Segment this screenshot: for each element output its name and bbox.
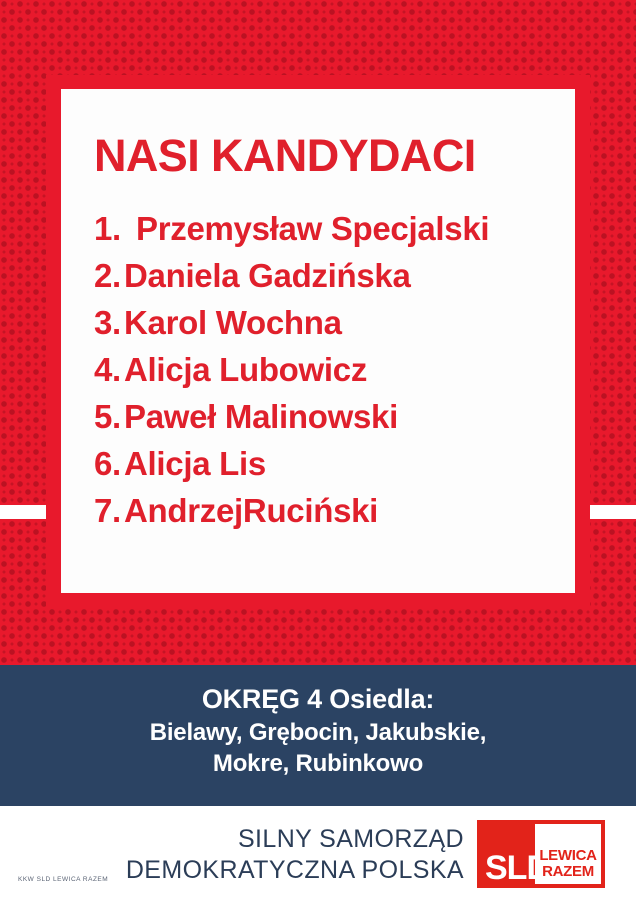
candidate-name: Karol Wochna <box>124 306 342 339</box>
left-edge-accent-bar <box>0 505 50 519</box>
candidate-name: AndrzejRuciński <box>124 494 378 527</box>
candidate-name: Daniela Gadzińska <box>124 259 411 292</box>
candidate-name: Przemysław Specjalski <box>124 212 489 245</box>
election-poster: NASI KANDYDACI 1. Przemysław Specjalski … <box>0 0 636 900</box>
list-item: 6. Alicja Lis <box>94 447 549 480</box>
candidate-number: 5. <box>94 400 124 433</box>
committee-disclaimer: KKW SLD LEWICA RAZEM <box>18 876 108 883</box>
campaign-slogan: SILNY SAMORZĄD DEMOKRATYCZNA POLSKA <box>126 824 464 885</box>
list-item: 4. Alicja Lubowicz <box>94 353 549 386</box>
slogan-line-1: SILNY SAMORZĄD <box>126 824 464 855</box>
slogan-line-2: DEMOKRATYCZNA POLSKA <box>126 855 464 886</box>
list-item: 2. Daniela Gadzińska <box>94 259 549 292</box>
candidate-number: 2. <box>94 259 124 292</box>
list-item: 7. AndrzejRuciński <box>94 494 549 527</box>
logo-lewica-razem-text: LEWICA RAZEM <box>535 848 601 880</box>
logo-razem-text: RAZEM <box>535 864 601 880</box>
page-title: NASI KANDYDACI <box>94 133 549 178</box>
candidate-number: 6. <box>94 447 124 480</box>
district-line-1: Bielawy, Grębocin, Jakubskie, <box>0 717 636 749</box>
candidate-number: 4. <box>94 353 124 386</box>
footer: SILNY SAMORZĄD DEMOKRATYCZNA POLSKA KKW … <box>0 806 636 900</box>
candidate-name: Alicja Lubowicz <box>124 353 367 386</box>
logo-lewica-text: LEWICA <box>535 848 601 864</box>
district-line-2: Mokre, Rubinkowo <box>0 748 636 780</box>
district-band: OKRĘG 4 Osiedla: Bielawy, Grębocin, Jaku… <box>0 665 636 806</box>
candidate-number: 3. <box>94 306 124 339</box>
list-item: 1. Przemysław Specjalski <box>94 212 549 245</box>
sld-lewica-razem-logo: SLD LEWICA RAZEM <box>477 820 605 888</box>
list-item: 3. Karol Wochna <box>94 306 549 339</box>
candidate-name: Alicja Lis <box>124 447 266 480</box>
candidate-name: Paweł Malinowski <box>124 400 398 433</box>
list-item: 5. Paweł Malinowski <box>94 400 549 433</box>
candidate-number: 7. <box>94 494 124 527</box>
candidates-card: NASI KANDYDACI 1. Przemysław Specjalski … <box>61 89 575 593</box>
district-heading: OKRĘG 4 Osiedla: <box>0 682 636 717</box>
right-edge-accent-bar <box>586 505 636 519</box>
candidate-number: 1. <box>94 212 124 245</box>
candidate-list: 1. Przemysław Specjalski 2. Daniela Gadz… <box>94 212 549 527</box>
logo-white-panel: LEWICA RAZEM <box>535 824 601 884</box>
